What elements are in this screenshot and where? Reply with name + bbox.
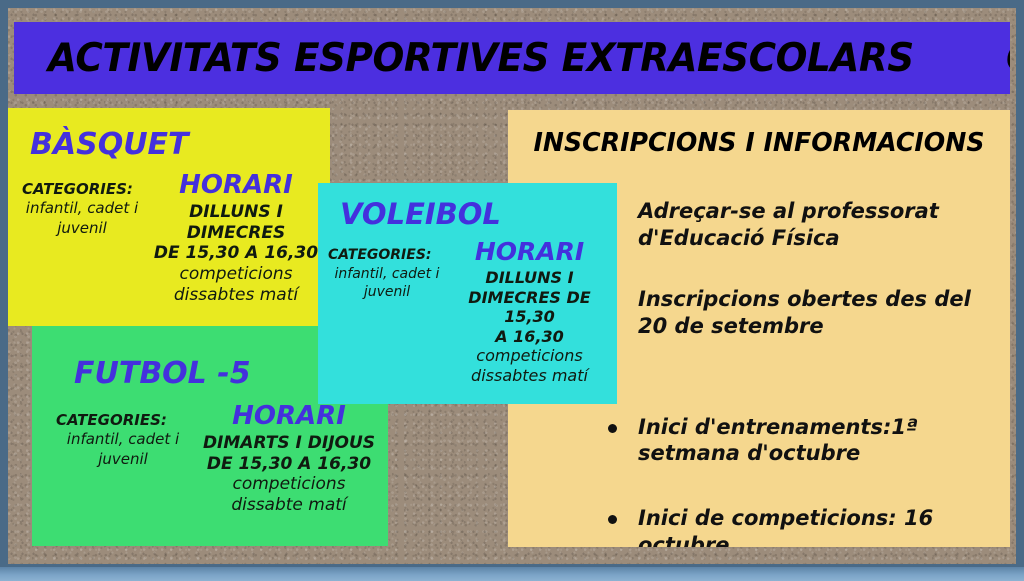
categories-block: CATEGORIES: infantil, cadet i juvenil [328,239,446,301]
info-list-item: Inici d'entrenaments:1ª setmana d'octubr… [604,414,998,468]
info-item-text: Inici d'entrenaments:1ª setmana d'octubr… [638,415,918,466]
schedule-note-basquet: competicions dissabtes matí [142,264,330,305]
card-columns: CATEGORIES: infantil, cadet i juvenil HO… [318,239,617,385]
schedule-note-voleibol: competicions dissabtes matí [446,346,613,385]
schedule-days-futbol: DIMARTS I DIJOUS DE 15,30 A 16,30 [190,433,388,474]
title-banner: ACTIVITATS ESPORTIVES EXTRAESCOLARS CUR … [14,22,1010,94]
card-columns: CATEGORIES: infantil, cadet i juvenil HO… [8,172,330,306]
sport-title-voleibol: VOLEIBOL [340,200,617,229]
categories-values: infantil, cadet i juvenil [328,265,446,301]
categories-block: CATEGORIES: infantil, cadet i juvenil [56,403,190,469]
horari-label-voleibol: HORARI [446,239,613,264]
info-item-text: Adreçar-se al professorat d'Educació Fís… [638,199,939,250]
categories-label: CATEGORIES: [56,411,190,430]
sport-title-basquet: BÀSQUET [30,130,330,160]
categories-values: infantil, cadet i juvenil [22,199,142,238]
categories-values: infantil, cadet i juvenil [56,430,190,469]
school-year-label: CUR 21_22 [1006,36,1010,81]
categories-label: CATEGORIES: [328,247,446,265]
info-panel-heading: INSCRIPCIONS I INFORMACIONS [525,128,993,158]
categories-block: CATEGORIES: infantil, cadet i juvenil [22,172,142,238]
schedule-block: HORARI DIMARTS I DIJOUS DE 15,30 A 16,30… [190,403,388,516]
sport-card-basquet: BÀSQUET CATEGORIES: infantil, cadet i ju… [8,108,330,326]
info-list-item: Adreçar-se al professorat d'Educació Fís… [604,198,998,252]
info-item-text: Inici de competicions: 16 octubre [638,506,933,547]
info-item-text: Inscripcions obertes des del 20 de setem… [638,287,971,338]
horari-label-futbol: HORARI [190,403,388,429]
schedule-note-futbol: competicions dissabte matí [190,474,388,515]
poster-root: ACTIVITATS ESPORTIVES EXTRAESCOLARS CUR … [0,0,1024,581]
schedule-days-basquet: DILLUNS I DIMECRES DE 15,30 A 16,30 [142,202,330,264]
card-columns: CATEGORIES: infantil, cadet i juvenil HO… [32,403,388,516]
info-list-item: Inscripcions obertes des del 20 de setem… [604,286,998,340]
bullet-icon [608,424,617,433]
categories-label: CATEGORIES: [22,180,142,199]
info-list-item: Inici de competicions: 16 octubre [604,505,998,547]
schedule-block: HORARI DILLUNS I DIMECRES DE 15,30 A 16,… [446,239,617,385]
bullet-icon [608,515,617,524]
sport-card-voleibol: VOLEIBOL CATEGORIES: infantil, cadet i j… [318,183,617,404]
page-title: ACTIVITATS ESPORTIVES EXTRAESCOLARS [48,36,914,81]
schedule-block: HORARI DILLUNS I DIMECRES DE 15,30 A 16,… [142,172,330,306]
frame-bottom-strip [0,567,1024,581]
horari-label-basquet: HORARI [142,172,330,198]
schedule-days-voleibol: DILLUNS I DIMECRES DE 15,30 A 16,30 [446,268,613,346]
